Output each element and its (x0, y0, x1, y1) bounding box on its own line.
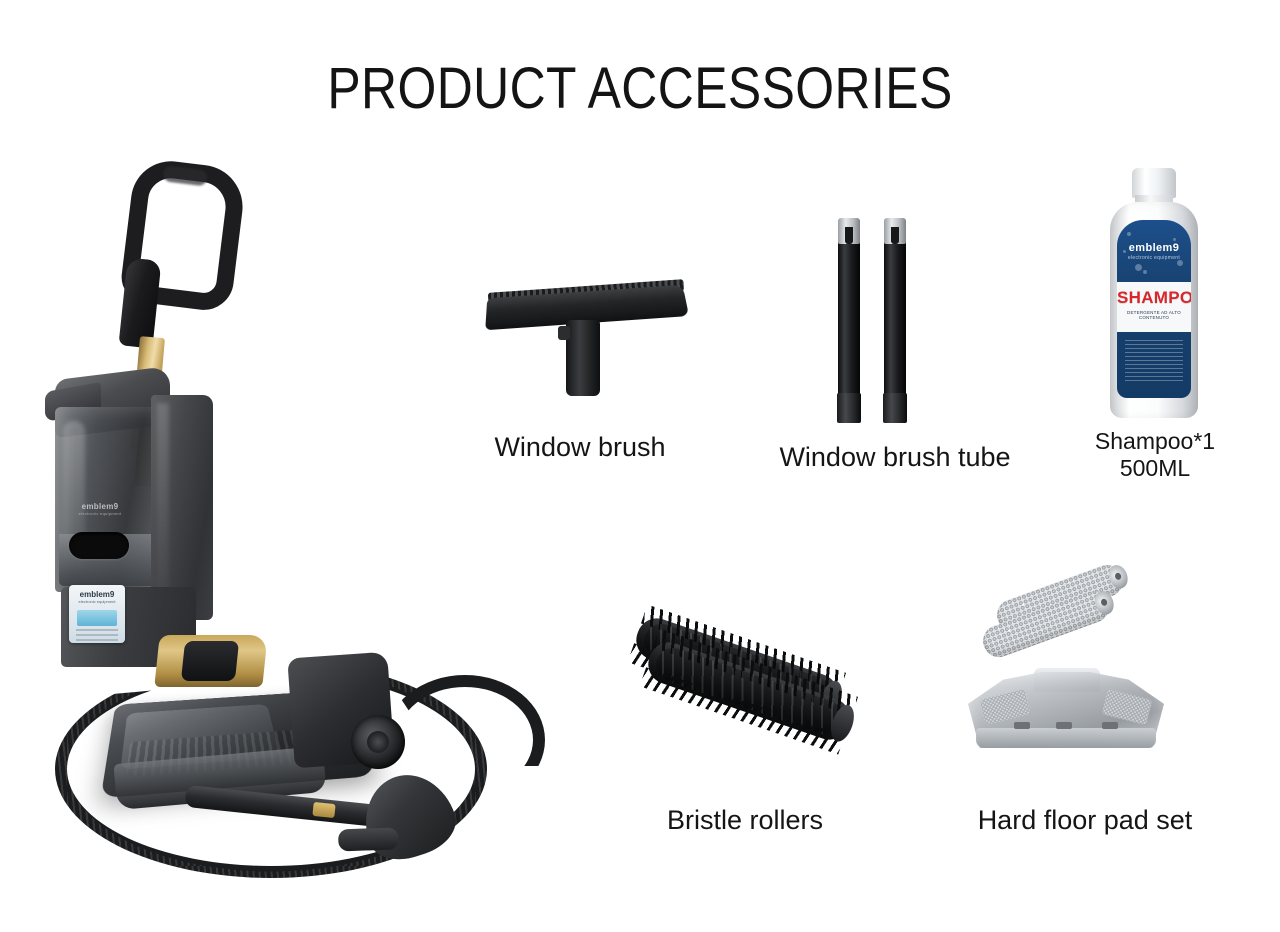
vacuum-top-emblem-brand: emblem9 (73, 503, 127, 511)
shampoo-cap (1132, 168, 1176, 198)
vacuum-badge-tagline: electronic equipment (69, 599, 125, 604)
vacuum-badge-chip (77, 610, 117, 626)
hard-floor-pad-clip-3 (1102, 722, 1118, 729)
product-image-main-unit: emblem9 electronic equipment emblem9 ele… (55, 155, 555, 855)
hard-floor-pad-clip-1 (1014, 722, 1030, 729)
hard-floor-pad-roller-1-cap (1106, 562, 1131, 591)
hard-floor-pad-base (976, 728, 1156, 748)
shampoo-product-subtitle: DETERGENTE AD ALTO CONTENUTO (1117, 310, 1191, 320)
vacuum-badge-textlines (76, 629, 118, 643)
caption-shampoo-line2: 500ML (1120, 455, 1190, 481)
caption-shampoo-line1: Shampoo*1 (1095, 428, 1215, 454)
caption-hard-floor-pad-set: Hard floor pad set (920, 805, 1250, 836)
vacuum-top-emblem-tagline: electronic equipment (73, 511, 127, 516)
shampoo-product-title: SHAMPOO (1117, 288, 1191, 308)
product-image-window-brush (478, 282, 698, 412)
vacuum-badge-brand: emblem9 (69, 591, 125, 599)
hard-floor-pad-clip-2 (1056, 722, 1072, 729)
vacuum-gold-collar (154, 635, 267, 687)
window-brush-tube-tip-1 (838, 218, 860, 244)
window-brush-tube-collar-2 (883, 393, 907, 423)
vacuum-carry-slot (69, 532, 129, 559)
shampoo-brand: emblem9 (1117, 242, 1191, 254)
product-image-bristle-rollers (630, 608, 860, 773)
vacuum-wheel (351, 715, 405, 769)
window-brush-tube-tip-2 (884, 218, 906, 244)
product-image-window-brush-tube (834, 218, 924, 423)
vacuum-top-emblem: emblem9 electronic equipment (73, 503, 127, 521)
vacuum-info-badge: emblem9 electronic equipment (69, 585, 125, 643)
caption-bristle-rollers: Bristle rollers (595, 805, 895, 836)
shampoo-label: emblem9 electronic equipment SHAMPOO DET… (1117, 220, 1191, 398)
page-title: PRODUCT ACCESSORIES (90, 55, 1191, 122)
window-brush-neck (566, 320, 600, 396)
shampoo-brand-tagline: electronic equipment (1117, 255, 1191, 261)
shampoo-label-fineprint (1125, 340, 1183, 382)
caption-shampoo: Shampoo*1500ML (1055, 428, 1255, 481)
caption-window-brush: Window brush (430, 432, 730, 463)
window-brush-tube-collar-1 (837, 393, 861, 423)
vacuum-wand-gold-accent (312, 802, 335, 818)
product-image-shampoo: emblem9 electronic equipment SHAMPOO DET… (1104, 168, 1204, 418)
caption-window-brush-tube: Window brush tube (740, 442, 1050, 473)
window-brush-tube-2 (884, 240, 906, 415)
window-brush-tube-1 (838, 240, 860, 415)
product-image-hard-floor-pad-set (968, 560, 1178, 765)
product-accessories-page: PRODUCT ACCESSORIES emblem9 electronic e… (0, 0, 1280, 932)
